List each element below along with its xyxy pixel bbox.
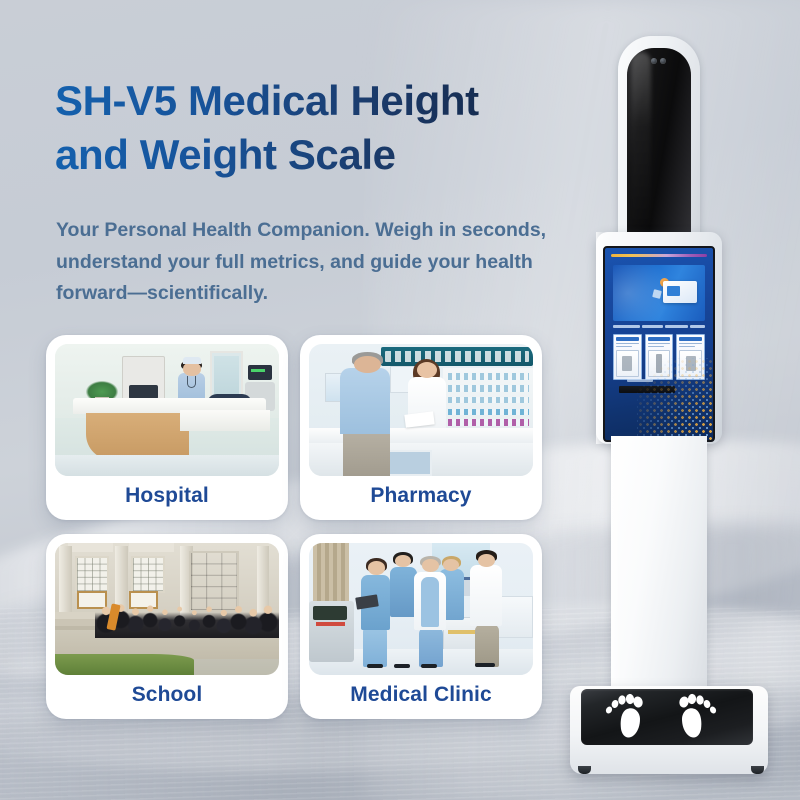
content-column: SH-V5 Medical Height and Weight Scale Yo… <box>0 0 560 800</box>
scenario-card-school[interactable]: School <box>46 534 288 719</box>
card-1-line <box>616 346 632 348</box>
support-column <box>611 436 707 698</box>
sensor-head-housing <box>618 36 700 248</box>
scenario-card-hospital[interactable]: Hospital <box>46 335 288 520</box>
screen-caption-bar <box>613 324 705 329</box>
hospital-photo <box>55 344 279 476</box>
card-2-header <box>648 337 671 341</box>
card-3-line <box>679 346 695 348</box>
card-1-line <box>616 343 639 345</box>
marketing-banner: SH-V5 Medical Height and Weight Scale Yo… <box>0 0 800 800</box>
platform-foot-right <box>751 766 764 774</box>
card-2-line <box>648 346 664 348</box>
pharmacy-label: Pharmacy <box>309 476 533 520</box>
ultrasonic-sensor-icon <box>651 58 667 65</box>
platform-foot-left <box>578 766 591 774</box>
scenario-card-pharmacy[interactable]: Pharmacy <box>300 335 542 520</box>
kiosk-touchscreen[interactable] <box>603 246 715 442</box>
scenario-card-medical-clinic[interactable]: Medical Clinic <box>300 534 542 719</box>
school-photo <box>55 543 279 675</box>
sensor-head-highlight <box>631 52 651 238</box>
pharmacy-photo <box>309 344 533 476</box>
page-title: SH-V5 Medical Height and Weight Scale <box>55 74 555 182</box>
hospital-label: Hospital <box>55 476 279 520</box>
school-label: School <box>55 675 279 719</box>
card-3-header <box>679 337 702 341</box>
medical-clinic-photo <box>309 543 533 675</box>
hero-accent-square-icon <box>652 289 662 299</box>
screen-hero-graphic <box>613 265 705 321</box>
card-1-header <box>616 337 639 341</box>
card-3-line <box>679 343 702 345</box>
scenario-card-grid: Hospital <box>46 335 542 719</box>
card-2-line <box>648 343 671 345</box>
hero-device-card-icon <box>663 281 697 303</box>
footprint-markers <box>581 689 753 745</box>
screen-header-bar <box>611 254 707 257</box>
column-edge-highlight <box>611 436 621 698</box>
kiosk-housing <box>596 232 722 444</box>
card-dispenser-icon <box>616 350 639 377</box>
halftone-dot-decoration <box>637 358 713 440</box>
medical-clinic-label: Medical Clinic <box>309 675 533 719</box>
product-image-sh-v5 <box>556 36 786 776</box>
page-subtitle: Your Personal Health Companion. Weigh in… <box>56 215 556 310</box>
